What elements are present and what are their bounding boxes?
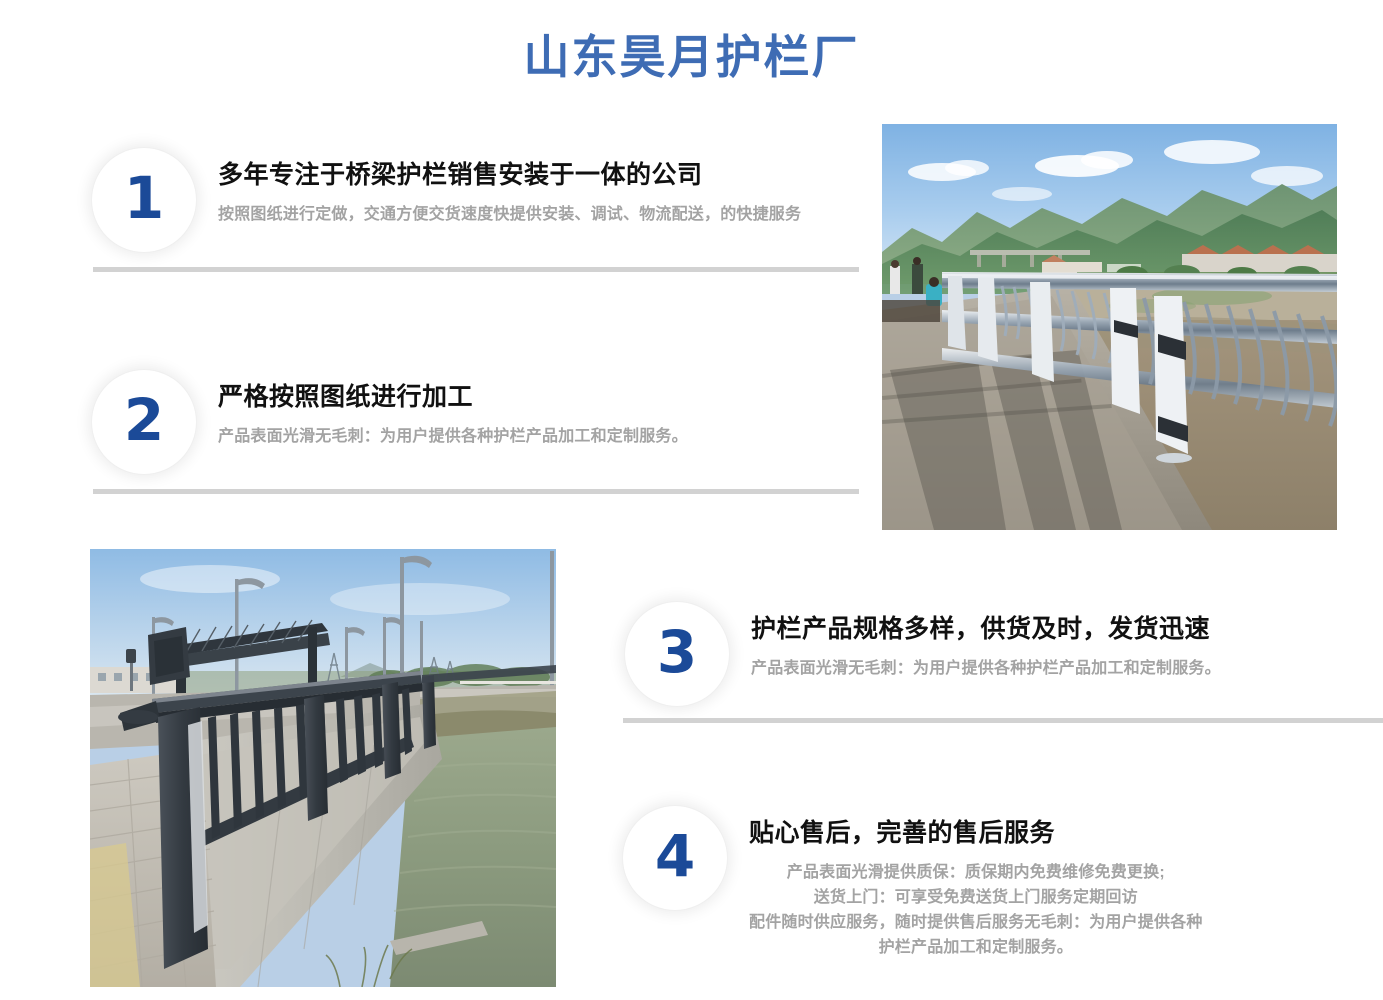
number-badge-label: 1 bbox=[124, 169, 164, 227]
feature-text-block-4: 贴心售后，完善的售后服务 产品表面光滑提供质保：质保期内免费维修免费更换; 送货… bbox=[727, 806, 1203, 960]
bridge-guardrail-river-photo bbox=[90, 549, 556, 987]
feature-desc-line: 产品表面光滑提供质保：质保期内免费维修免费更换; bbox=[749, 861, 1203, 886]
feature-desc-2: 产品表面光滑无毛刺：为用户提供各种护栏产品加工和定制服务。 bbox=[218, 425, 688, 450]
feature-text-block-2: 严格按照图纸进行加工 产品表面光滑无毛刺：为用户提供各种护栏产品加工和定制服务。 bbox=[196, 370, 688, 450]
feature-text-block-1: 多年专注于桥梁护栏销售安装于一体的公司 按照图纸进行定做，交通方便交货速度快提供… bbox=[196, 148, 801, 228]
page-title: 山东昊月护栏厂 bbox=[0, 30, 1383, 85]
number-badge-label: 3 bbox=[657, 623, 697, 681]
feature-desc-1: 按照图纸进行定做，交通方便交货速度快提供安装、调试、物流配送，的快捷服务 bbox=[218, 203, 801, 228]
feature-desc-line: 护栏产品加工和定制服务。 bbox=[749, 936, 1203, 961]
bridge-guardrail-mountain-photo bbox=[882, 124, 1337, 530]
feature-item-1: 1 多年专注于桥梁护栏销售安装于一体的公司 按照图纸进行定做，交通方便交货速度快… bbox=[92, 148, 801, 252]
feature-desc-4: 产品表面光滑提供质保：质保期内免费维修免费更换; 送货上门：可享受免费送货上门服… bbox=[749, 861, 1203, 960]
number-badge-1: 1 bbox=[92, 148, 196, 252]
feature-text-block-3: 护栏产品规格多样，供货及时，发货迅速 产品表面光滑无毛刺：为用户提供各种护栏产品… bbox=[729, 602, 1221, 682]
number-badge-3: 3 bbox=[625, 602, 729, 706]
number-badge-2: 2 bbox=[92, 370, 196, 474]
feature-desc-line: 送货上门：可享受免费送货上门服务定期回访 bbox=[749, 886, 1203, 911]
number-badge-label: 4 bbox=[655, 827, 695, 885]
number-badge-4: 4 bbox=[623, 806, 727, 910]
divider-2 bbox=[93, 489, 859, 494]
number-badge-label: 2 bbox=[124, 391, 164, 449]
divider-3 bbox=[623, 718, 1383, 723]
feature-heading-3: 护栏产品规格多样，供货及时，发货迅速 bbox=[751, 614, 1221, 645]
feature-desc-line: 配件随时供应服务，随时提供售后服务无毛刺：为用户提供各种 bbox=[749, 911, 1203, 936]
feature-desc-3: 产品表面光滑无毛刺：为用户提供各种护栏产品加工和定制服务。 bbox=[751, 657, 1221, 682]
feature-heading-1: 多年专注于桥梁护栏销售安装于一体的公司 bbox=[218, 160, 801, 191]
feature-item-2: 2 严格按照图纸进行加工 产品表面光滑无毛刺：为用户提供各种护栏产品加工和定制服… bbox=[92, 370, 688, 474]
feature-item-4: 4 贴心售后，完善的售后服务 产品表面光滑提供质保：质保期内免费维修免费更换; … bbox=[623, 806, 1203, 960]
feature-heading-2: 严格按照图纸进行加工 bbox=[218, 382, 688, 413]
divider-1 bbox=[93, 267, 859, 272]
feature-heading-4: 贴心售后，完善的售后服务 bbox=[749, 818, 1203, 849]
promo-page: 山东昊月护栏厂 1 多年专注于桥梁护栏销售安装于一体的公司 按照图纸进行定做，交… bbox=[0, 0, 1383, 1000]
feature-item-3: 3 护栏产品规格多样，供货及时，发货迅速 产品表面光滑无毛刺：为用户提供各种护栏… bbox=[625, 602, 1221, 706]
